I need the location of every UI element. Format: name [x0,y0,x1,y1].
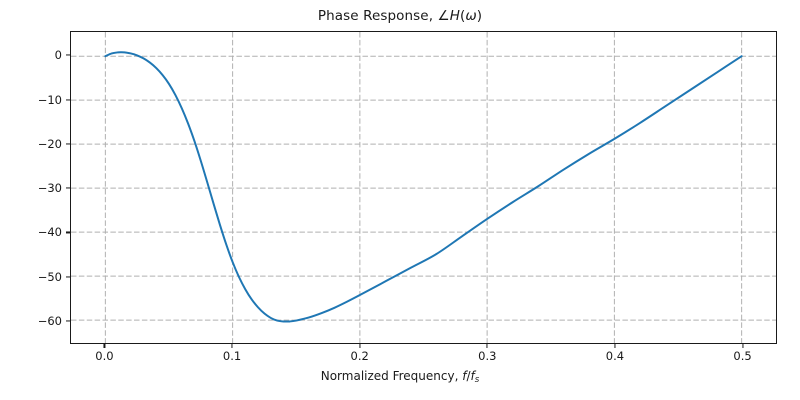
y-tick-mark [66,188,70,189]
series-phase-line [71,32,776,343]
x-tick-mark [104,344,105,348]
x-tick-mark [487,344,488,348]
y-tick-mark [66,276,70,277]
x-tick-label: 0.3 [478,349,496,363]
x-tick-label: 0.5 [733,349,751,363]
x-tick-label: 0.4 [606,349,624,363]
x-tick-mark [232,344,233,348]
y-tick-mark [66,99,70,100]
x-tick-label: 0.2 [351,349,369,363]
y-tick-mark [66,232,70,233]
figure-canvas: Phase Response, ∠H(ω) Phase (deg), ∠H(ω)… [0,0,800,400]
y-tick-mark [66,143,70,144]
x-tick-label: 0.0 [95,349,113,363]
y-tick-mark [66,320,70,321]
x-tick-mark [359,344,360,348]
x-tick-mark [742,344,743,348]
plot-area [70,31,777,344]
y-tick-mark [66,55,70,56]
x-tick-mark [614,344,615,348]
x-tick-label: 0.1 [223,349,241,363]
